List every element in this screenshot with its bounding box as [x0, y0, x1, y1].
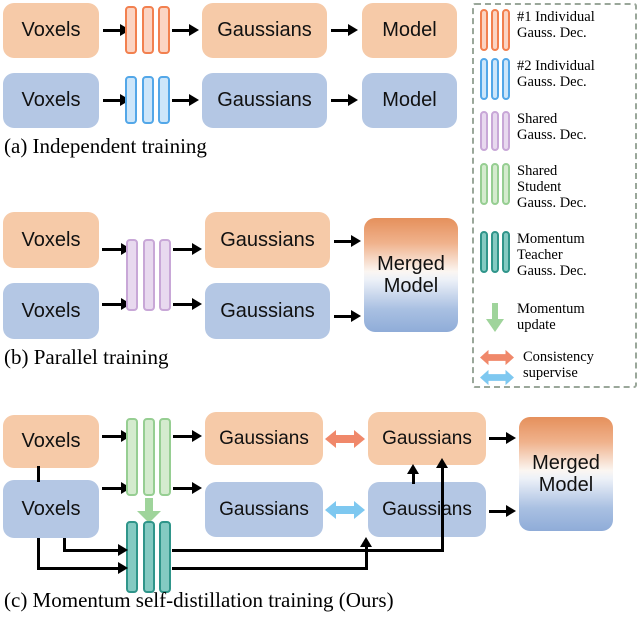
legend-label: Momentum update [517, 301, 585, 333]
arrow-head-up-icon [360, 537, 372, 547]
legend-label: Momentum Teacher Gauss. Dec. [517, 231, 587, 280]
arrow-head-right-icon [118, 562, 128, 574]
arrow-line [102, 248, 122, 251]
arrow-head-right-icon [506, 432, 516, 444]
panel-c-caption: (c) Momentum self-distillation training … [4, 588, 394, 613]
legend-panel: #1 Individual Gauss. Dec. #2 Individual … [472, 3, 637, 388]
arrow-head-right-icon [348, 94, 358, 106]
decoder-blue-swatch-icon [480, 58, 510, 100]
double-arrow-pair-icon [478, 349, 516, 387]
decoder-orange-swatch-icon [480, 9, 510, 51]
arrow-line [173, 303, 193, 306]
figure-canvas: Voxels Gaussians Model Voxels Gaussians … [0, 0, 640, 618]
merged-line-1: Merged [532, 452, 600, 474]
panel-b-caption: (b) Parallel training [4, 345, 168, 370]
panel-b-merged-model: Merged Model [364, 218, 458, 332]
routing-line [63, 549, 121, 552]
merged-line-2: Model [377, 275, 445, 297]
arrow-head-right-icon [192, 482, 202, 494]
consistency-arrow-icon [478, 349, 516, 366]
panel-b-row1-voxels: Voxels [3, 212, 99, 268]
routing-line [172, 549, 444, 552]
routing-line [172, 567, 368, 570]
panel-b-row1-gaussians: Gaussians [205, 212, 330, 268]
arrow-head-right-icon [351, 310, 361, 322]
arrow-line [173, 487, 193, 490]
panel-a-row1-voxels: Voxels [3, 3, 99, 58]
routing-line [441, 466, 444, 551]
panel-a-row2-model: Model [362, 73, 457, 128]
arrow-head-right-icon [192, 298, 202, 310]
arrow-line [103, 29, 121, 32]
routing-line [365, 545, 368, 570]
arrow-head-right-icon [506, 505, 516, 517]
legend-label: #2 Individual Gauss. Dec. [517, 58, 595, 90]
arrow-line [103, 99, 121, 102]
voxels-link-line [37, 466, 40, 482]
panel-c-row2-gaussians-teacher: Gaussians [368, 482, 486, 537]
legend-item-momentum-update: Momentum update [480, 301, 585, 335]
arrow-line [334, 315, 352, 318]
legend-item-teacher-decoder: Momentum Teacher Gauss. Dec. [480, 231, 587, 280]
legend-item-individual-decoder-2: #2 Individual Gauss. Dec. [480, 58, 595, 100]
arrow-line [102, 435, 122, 438]
momentum-update-arrow-icon [480, 301, 510, 335]
panel-a-row1-gaussians: Gaussians [202, 3, 327, 58]
decoder-purple-swatch-icon [480, 111, 510, 151]
arrow-head-right-icon [348, 24, 358, 36]
panel-c-teacher-decoder [126, 521, 171, 593]
arrow-line [173, 248, 193, 251]
arrow-head-right-icon [192, 243, 202, 255]
panel-c-merged-model: Merged Model [519, 417, 613, 531]
arrow-head-right-icon [118, 544, 128, 556]
arrow-head-right-icon [189, 94, 199, 106]
arrow-line [102, 487, 122, 490]
arrow-head-right-icon [351, 235, 361, 247]
arrow-head-up-icon [436, 458, 448, 468]
legend-label: Shared Gauss. Dec. [517, 111, 587, 143]
arrow-line [331, 99, 349, 102]
panel-c-row1-voxels: Voxels [3, 415, 99, 468]
routing-line [37, 538, 40, 570]
panel-c-student-decoder [126, 418, 171, 496]
arrow-line [489, 510, 507, 513]
panel-b-shared-decoder [126, 239, 171, 311]
arrow-head-right-icon [189, 24, 199, 36]
panel-a-row2-voxels: Voxels [3, 73, 99, 128]
panel-a-row1-individual-decoder-1 [125, 6, 170, 54]
panel-a-row1-model: Model [362, 3, 457, 58]
panel-c-row1-gaussians-teacher: Gaussians [368, 412, 486, 465]
routing-line [37, 567, 121, 570]
panel-b-row2-voxels: Voxels [3, 283, 99, 339]
arrow-line [172, 29, 190, 32]
arrow-down-green-icon [485, 303, 505, 333]
arrow-line [172, 99, 190, 102]
merged-line-1: Merged [377, 253, 445, 275]
legend-label: #1 Individual Gauss. Dec. [517, 9, 595, 41]
legend-item-student-decoder: Shared Student Gauss. Dec. [480, 163, 587, 212]
arrow-head-right-icon [192, 430, 202, 442]
arrow-line [489, 437, 507, 440]
arrow-line [331, 29, 349, 32]
arrow-line [102, 303, 122, 306]
supervise-arrow-icon [325, 499, 365, 521]
merged-line-2: Model [532, 474, 600, 496]
panel-b-row2-gaussians: Gaussians [205, 283, 330, 339]
legend-label: Consistency supervise [523, 349, 594, 381]
panel-a-row2-gaussians: Gaussians [202, 73, 327, 128]
panel-c-row2-voxels: Voxels [3, 480, 99, 538]
arrow-line [334, 240, 352, 243]
decoder-green-swatch-icon [480, 163, 510, 205]
panel-a-row2-individual-decoder-2 [125, 76, 170, 124]
arrow-head-up-icon [407, 464, 419, 474]
arrow-line [173, 435, 193, 438]
decoder-teal-swatch-icon [480, 231, 510, 273]
panel-c-row2-gaussians-student: Gaussians [205, 482, 323, 537]
legend-item-individual-decoder-1: #1 Individual Gauss. Dec. [480, 9, 595, 51]
legend-item-shared-decoder: Shared Gauss. Dec. [480, 111, 587, 151]
legend-item-consistency-supervise: Consistency supervise [478, 349, 594, 387]
panel-c-row1-gaussians-student: Gaussians [205, 412, 323, 465]
supervise-arrow-icon [478, 369, 516, 386]
panel-a-caption: (a) Independent training [4, 134, 207, 159]
consistency-arrow-icon [325, 428, 365, 450]
legend-label: Shared Student Gauss. Dec. [517, 163, 587, 212]
